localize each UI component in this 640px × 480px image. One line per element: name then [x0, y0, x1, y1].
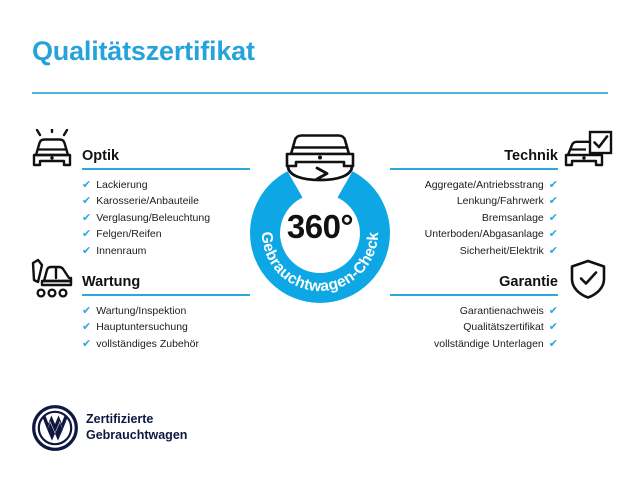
checklist-technik: Aggregate/Antriebsstrang✔ Lenkung/Fahrwe…	[390, 177, 558, 259]
list-item-label: Wartung/Inspektion	[96, 305, 186, 317]
list-item: Lenkung/Fahrwerk✔	[390, 193, 558, 209]
section-garantie: Garantie Garantienachweis✔ Qualitätszert…	[390, 266, 558, 352]
list-item-label: Hauptuntersuchung	[96, 321, 188, 333]
section-header: Technik	[390, 140, 558, 170]
car-checkbox-icon	[562, 129, 614, 173]
section-title: Technik	[504, 148, 558, 164]
page-title: Qualitätszertifikat	[32, 36, 255, 67]
list-item: ✔Wartung/Inspektion	[82, 303, 250, 319]
section-technik: Technik Aggregate/Antriebsstrang✔ Lenkun…	[390, 140, 558, 259]
list-item-label: Sicherheit/Elektrik	[460, 245, 544, 257]
header-divider	[32, 92, 608, 94]
section-title: Garantie	[499, 274, 558, 290]
list-item-label: Garantienachweis	[460, 305, 544, 317]
section-header: Garantie	[390, 266, 558, 296]
check-icon: ✔	[82, 179, 91, 191]
check-icon: ✔	[549, 305, 558, 317]
list-item-label: Qualitätszertifikat	[463, 321, 544, 333]
check-icon: ✔	[549, 321, 558, 333]
check-icon: ✔	[82, 212, 91, 224]
list-item-label: Lackierung	[96, 179, 147, 191]
section-header: Wartung	[82, 266, 250, 296]
badge-degrees-label: 360°	[238, 208, 402, 246]
shield-check-icon	[566, 257, 610, 301]
car-shine-icon	[26, 129, 78, 173]
list-item: ✔Lackierung	[82, 177, 250, 193]
check-icon: ✔	[82, 228, 91, 240]
check-icon: ✔	[549, 179, 558, 191]
list-item: ✔Verglasung/Beleuchtung	[82, 210, 250, 226]
list-item-label: Bremsanlage	[482, 212, 544, 224]
list-item: Unterboden/Abgasanlage✔	[390, 226, 558, 242]
list-item: ✔Karosserie/Anbauteile	[82, 193, 250, 209]
list-item: Garantienachweis✔	[390, 303, 558, 319]
section-divider	[82, 294, 250, 296]
list-item: Aggregate/Antriebsstrang✔	[390, 177, 558, 193]
list-item: vollständige Unterlagen✔	[390, 336, 558, 352]
check-icon: ✔	[549, 212, 558, 224]
checklist-optik: ✔Lackierung ✔Karosserie/Anbauteile ✔Verg…	[82, 177, 250, 259]
badge-360-gebrauchtwagen-check: Gebrauchtwagen-Check 360°	[238, 160, 402, 306]
check-icon: ✔	[549, 195, 558, 207]
section-divider	[390, 168, 558, 170]
section-optik: Optik ✔Lackierung ✔Karosserie/Anbauteile…	[82, 140, 250, 259]
list-item-label: Lenkung/Fahrwerk	[457, 195, 544, 207]
list-item-label: Karosserie/Anbauteile	[96, 195, 199, 207]
checklist-garantie: Garantienachweis✔ Qualitätszertifikat✔ v…	[390, 303, 558, 352]
list-item-label: Aggregate/Antriebsstrang	[425, 179, 544, 191]
list-item-label: Innenraum	[96, 245, 146, 257]
section-divider	[390, 294, 558, 296]
section-header: Optik	[82, 140, 250, 170]
list-item: Sicherheit/Elektrik✔	[390, 243, 558, 259]
section-divider	[82, 168, 250, 170]
list-item: Bremsanlage✔	[390, 210, 558, 226]
check-icon: ✔	[549, 338, 558, 350]
list-item: ✔Felgen/Reifen	[82, 226, 250, 242]
section-wartung: Wartung ✔Wartung/Inspektion ✔Hauptunters…	[82, 266, 250, 352]
check-icon: ✔	[549, 245, 558, 257]
check-icon: ✔	[82, 305, 91, 317]
checklist-wartung: ✔Wartung/Inspektion ✔Hauptuntersuchung ✔…	[82, 303, 250, 352]
section-title: Wartung	[82, 274, 140, 290]
list-item: ✔Hauptuntersuchung	[82, 319, 250, 335]
list-item: ✔vollständiges Zubehör	[82, 336, 250, 352]
footer-line-2: Gebrauchtwagen	[86, 427, 187, 443]
list-item-label: Verglasung/Beleuchtung	[96, 212, 210, 224]
check-icon: ✔	[82, 338, 91, 350]
list-item: Qualitätszertifikat✔	[390, 319, 558, 335]
check-icon: ✔	[82, 321, 91, 333]
section-title: Optik	[82, 148, 119, 164]
check-icon: ✔	[549, 228, 558, 240]
list-item-label: Unterboden/Abgasanlage	[425, 228, 544, 240]
wrench-car-service-icon	[26, 257, 78, 301]
footer-line-1: Zertifizierte	[86, 411, 187, 427]
check-icon: ✔	[82, 245, 91, 257]
footer-brand-text: Zertifizierte Gebrauchtwagen	[86, 411, 187, 443]
list-item: ✔Innenraum	[82, 243, 250, 259]
list-item-label: vollständige Unterlagen	[434, 338, 544, 350]
check-icon: ✔	[82, 195, 91, 207]
volkswagen-logo	[32, 405, 78, 451]
list-item-label: Felgen/Reifen	[96, 228, 161, 240]
list-item-label: vollständiges Zubehör	[96, 338, 199, 350]
